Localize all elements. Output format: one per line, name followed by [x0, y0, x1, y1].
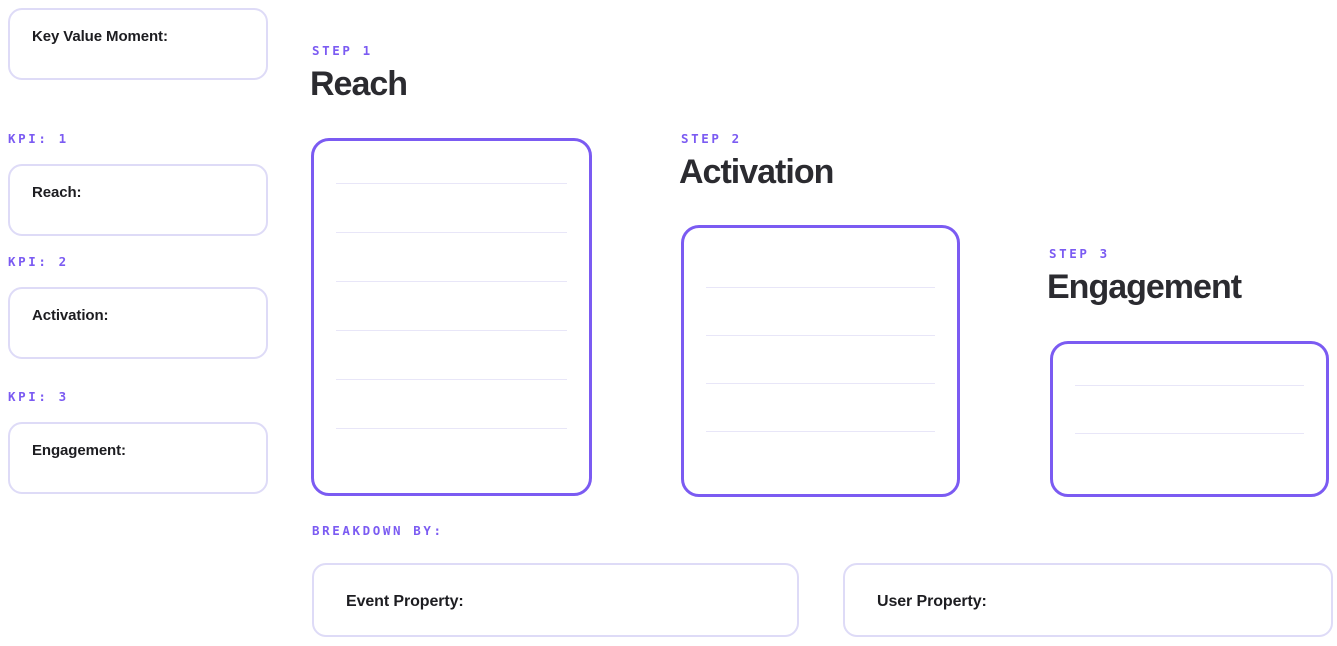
step-3-title: Engagement	[1047, 268, 1241, 307]
step-3-notes-card[interactable]	[1050, 341, 1329, 497]
kpi-2-index-label: KPI: 2	[8, 254, 69, 269]
rule-line	[1075, 433, 1304, 434]
step-3-label: STEP 3	[1049, 246, 1110, 261]
kpi-3-index-label: KPI: 3	[8, 389, 69, 404]
rule-line	[706, 335, 935, 336]
user-property-field[interactable]: User Property:	[843, 563, 1333, 637]
user-property-label: User Property:	[877, 593, 987, 611]
worksheet-canvas: Key Value Moment: KPI: 1 Reach: KPI: 2 A…	[0, 0, 1337, 646]
kpi-3-field[interactable]: Engagement:	[8, 422, 268, 494]
breakdown-by-label: BREAKDOWN BY:	[312, 523, 444, 538]
rule-line	[336, 330, 567, 331]
event-property-field[interactable]: Event Property:	[312, 563, 799, 637]
key-value-moment-field[interactable]: Key Value Moment:	[8, 8, 268, 80]
rule-line	[1075, 385, 1304, 386]
rule-line	[336, 281, 567, 282]
kpi-1-field[interactable]: Reach:	[8, 164, 268, 236]
rule-line	[336, 183, 567, 184]
step-2-notes-card[interactable]	[681, 225, 960, 497]
kpi-1-index-label: KPI: 1	[8, 131, 69, 146]
kpi-2-field[interactable]: Activation:	[8, 287, 268, 359]
rule-line	[706, 383, 935, 384]
rule-line	[336, 428, 567, 429]
step-2-label: STEP 2	[681, 131, 742, 146]
kpi-3-label: Engagement:	[32, 442, 126, 459]
step-2-title: Activation	[679, 153, 833, 192]
step-1-title: Reach	[310, 65, 407, 104]
rule-line	[706, 431, 935, 432]
rule-line	[336, 379, 567, 380]
rule-line	[336, 232, 567, 233]
kpi-2-label: Activation:	[32, 307, 108, 324]
key-value-moment-label: Key Value Moment:	[32, 28, 168, 45]
rule-line	[706, 287, 935, 288]
kpi-1-label: Reach:	[32, 184, 81, 201]
step-1-label: STEP 1	[312, 43, 373, 58]
event-property-label: Event Property:	[346, 593, 464, 611]
step-1-notes-card[interactable]	[311, 138, 592, 496]
